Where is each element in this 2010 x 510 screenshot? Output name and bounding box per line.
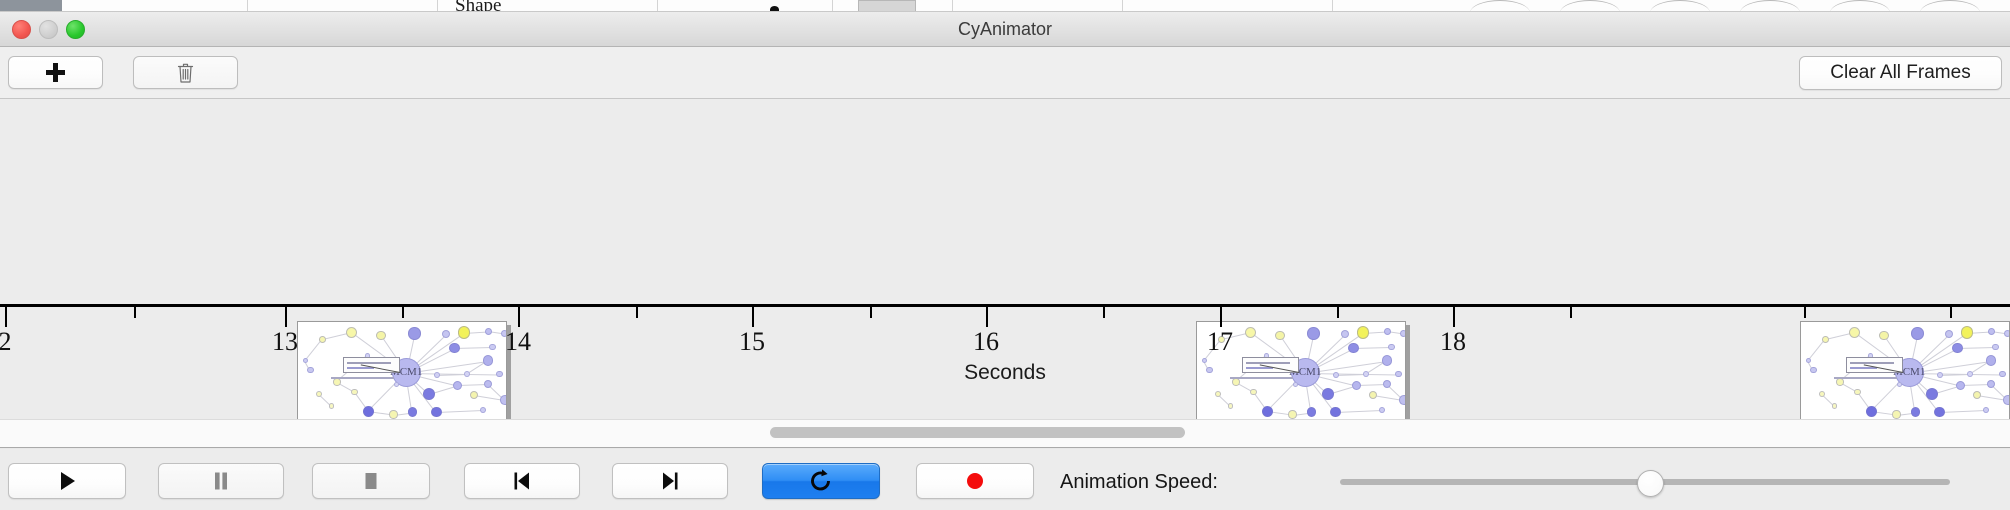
background-tab: [0, 0, 62, 11]
network-node: [1879, 331, 1888, 340]
network-node: [423, 388, 435, 400]
title-bar: CyAnimator: [0, 12, 2010, 47]
animation-speed-slider-thumb[interactable]: [1637, 470, 1664, 497]
stop-icon: [358, 468, 384, 494]
axis-tick-major: [1453, 307, 1455, 327]
network-node: [1849, 327, 1860, 338]
network-node: [1934, 407, 1944, 417]
axis-tick-minor: [1570, 307, 1572, 318]
clear-all-frames-label: Clear All Frames: [1830, 62, 1970, 84]
axis-tick-minor: [1804, 307, 1806, 318]
network-node: [1384, 328, 1391, 335]
play-button[interactable]: [8, 463, 126, 499]
network-node: [1961, 326, 1973, 338]
network-edge: [437, 410, 483, 413]
network-node: [389, 410, 397, 418]
network-node: [1911, 327, 1923, 339]
axis-tick-label: 14: [505, 327, 531, 357]
delete-frame-button[interactable]: [133, 56, 238, 89]
network-node: [1330, 407, 1340, 417]
network-node: [329, 403, 334, 408]
network-node: [1307, 407, 1317, 417]
network-node: [1983, 407, 1989, 413]
play-icon: [54, 468, 80, 494]
network-node: [1819, 391, 1825, 397]
network-node: [1945, 330, 1953, 338]
cyanimator-window-screenshot: Shape CyAnimator: [0, 0, 2010, 510]
axis-tick-minor: [1103, 307, 1105, 318]
network-node: [489, 344, 496, 351]
frame-toolbar: Clear All Frames: [0, 47, 2010, 99]
axis-tick-major: [518, 307, 520, 327]
network-node: [1911, 407, 1921, 417]
network-node: [2003, 395, 2010, 405]
network-node: [1866, 406, 1877, 417]
loop-button[interactable]: [762, 463, 880, 499]
network-node: [1926, 388, 1938, 400]
network-node: [1400, 330, 1406, 337]
loop-icon: [808, 468, 834, 494]
network-node: [2004, 330, 2010, 337]
network-node: [408, 407, 418, 417]
network-node: [1215, 391, 1221, 397]
clear-all-frames-button[interactable]: Clear All Frames: [1799, 56, 2002, 90]
network-node: [1992, 344, 1999, 351]
network-edge: [1353, 347, 1391, 349]
add-frame-button[interactable]: [8, 56, 103, 89]
network-edge: [1336, 410, 1382, 413]
network-node: [431, 407, 441, 417]
network-node: [1307, 327, 1319, 339]
network-node: [1262, 406, 1273, 417]
pause-icon: [208, 468, 234, 494]
network-node: [319, 336, 326, 343]
axis-tick-minor: [1337, 307, 1339, 318]
network-edge: [1957, 347, 1995, 349]
skip-forward-button[interactable]: [612, 463, 728, 499]
record-button[interactable]: [916, 463, 1034, 499]
axis-tick-label: 15: [739, 327, 765, 357]
network-node: [408, 327, 420, 339]
network-node: [1245, 327, 1256, 338]
stop-button[interactable]: [312, 463, 430, 499]
axis-tick-major: [285, 307, 287, 327]
axis-tick-major: [5, 307, 7, 327]
network-node: [1369, 391, 1377, 399]
network-node: [1348, 343, 1358, 353]
network-node: [470, 391, 478, 399]
axis-title: Seconds: [0, 361, 2010, 385]
network-node: [1388, 344, 1395, 351]
trash-icon: [177, 62, 194, 83]
skip-forward-icon: [657, 468, 683, 494]
network-edge: [1940, 410, 1986, 413]
transport-bar: Animation Speed:: [0, 448, 2010, 510]
network-node: [1288, 410, 1296, 418]
network-node: [1322, 388, 1334, 400]
record-icon: [962, 468, 988, 494]
network-node: [1988, 328, 1995, 335]
network-node: [1228, 403, 1233, 408]
cyanimator-window: CyAnimator Clear All Frames MCM1MCM1MCM1…: [0, 11, 2010, 510]
timeline-scrollbar[interactable]: [0, 419, 2010, 448]
axis-tick-major: [752, 307, 754, 327]
network-node: [449, 343, 459, 353]
network-node: [1952, 343, 1962, 353]
animation-speed-label: Animation Speed:: [1060, 471, 1218, 494]
skip-back-button[interactable]: [464, 463, 580, 499]
axis-tick-minor: [134, 307, 136, 318]
pause-button[interactable]: [158, 463, 284, 499]
network-node: [480, 407, 486, 413]
axis-tick-minor: [870, 307, 872, 318]
axis-tick-major: [986, 307, 988, 327]
timeline-scrollbar-thumb[interactable]: [770, 427, 1185, 438]
skip-back-icon: [509, 468, 535, 494]
network-node: [1379, 407, 1385, 413]
network-node: [485, 328, 492, 335]
network-node: [442, 330, 450, 338]
axis-tick-label: 13: [272, 327, 298, 357]
network-node: [500, 395, 507, 405]
network-node: [316, 391, 322, 397]
network-edge: [454, 347, 492, 349]
network-node: [376, 331, 385, 340]
network-node: [363, 406, 374, 417]
network-node: [1399, 395, 1406, 405]
network-node: [458, 326, 470, 338]
axis-tick-minor: [402, 307, 404, 318]
axis-tick-label: 16: [973, 327, 999, 357]
axis-tick-minor: [1950, 307, 1952, 318]
axis-tick-label: 17: [1207, 327, 1233, 357]
window-title: CyAnimator: [0, 19, 2010, 40]
axis-tick-minor: [636, 307, 638, 318]
timeline-axis: [0, 304, 2010, 307]
network-node: [1973, 391, 1981, 399]
timeline-panel[interactable]: MCM1MCM1MCM1 2131415161718 Seconds: [0, 99, 2010, 419]
axis-tick-label: 2: [0, 327, 12, 357]
network-node: [1275, 331, 1284, 340]
network-node: [1892, 410, 1900, 418]
network-node: [346, 327, 357, 338]
network-node: [1357, 326, 1369, 338]
network-node: [1341, 330, 1349, 338]
network-node: [1822, 336, 1829, 343]
axis-tick-label: 18: [1440, 327, 1466, 357]
axis-tick-major: [1220, 307, 1222, 327]
plus-icon: [46, 63, 65, 82]
network-node: [1832, 403, 1837, 408]
